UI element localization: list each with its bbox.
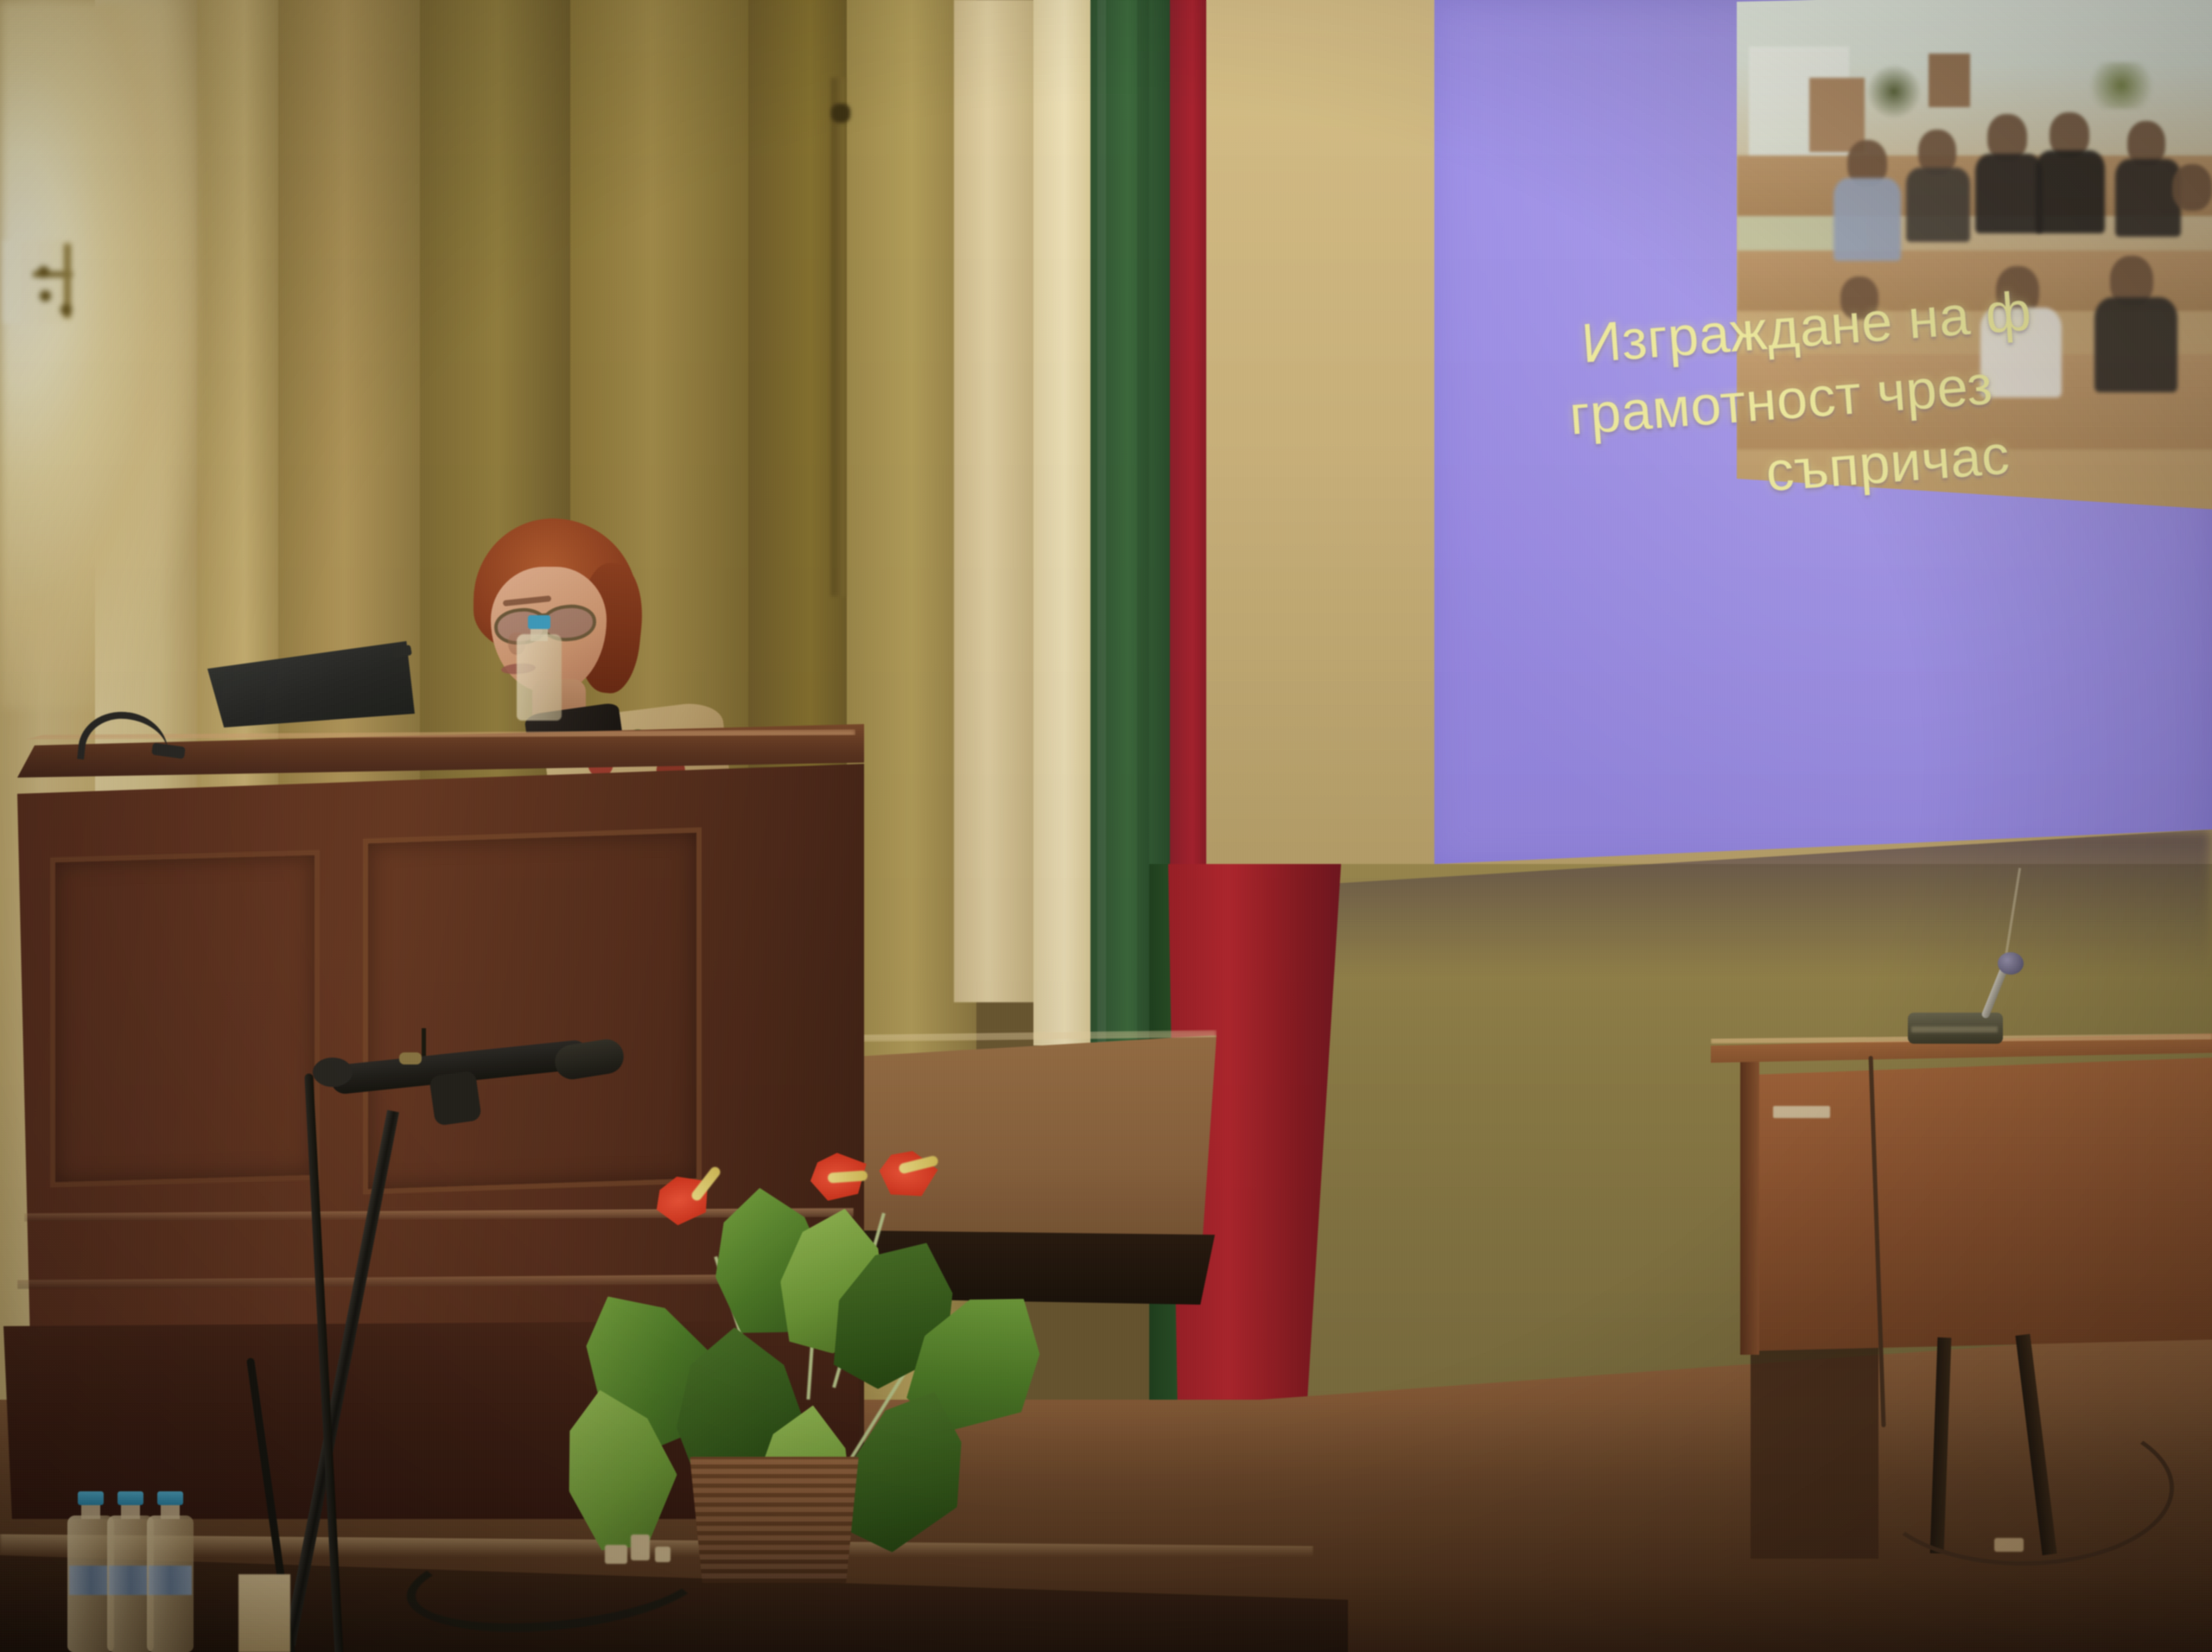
flag-fold: [1137, 0, 1149, 1045]
classroom-picture: [1929, 54, 1970, 107]
bottle-cap: [528, 615, 550, 629]
water-bottle: [147, 1515, 194, 1652]
boom-adjust-screw: [399, 1052, 422, 1064]
bottle-cap: [78, 1491, 104, 1505]
bottled-water-group: [67, 1495, 223, 1652]
photograph-scene: Изграждане на ф грамотност чрез съпричас: [0, 0, 2212, 1652]
mic-base-highlight: [1911, 1026, 1998, 1032]
floor-objects: [605, 1529, 709, 1564]
water-bottle-on-lectern: [517, 619, 562, 722]
boom-joint: [313, 1058, 353, 1087]
student-head: [2172, 164, 2212, 211]
desk-label-sticker: [1773, 1106, 1830, 1118]
classroom-plant: [1866, 64, 1922, 119]
laptop-hinge: [391, 645, 412, 658]
student-torso: [1975, 154, 2043, 233]
curtain-pole: [831, 78, 845, 596]
bottle-label: [109, 1566, 152, 1595]
sconce-bulb: [60, 304, 72, 315]
wicker-basket: [684, 1457, 864, 1583]
bottle-cap: [118, 1491, 143, 1505]
mic-capsule: [1998, 952, 2024, 975]
classroom-plant: [2082, 62, 2160, 109]
sconce-bulb: [38, 266, 49, 277]
sconce-bulb: [40, 290, 51, 302]
floor-prop: [238, 1574, 290, 1652]
desk-side-edge: [1740, 1056, 1759, 1355]
projection-screen: Изграждане на ф грамотност чрез съпричас: [1434, 0, 2212, 864]
laptop-screen: [207, 641, 415, 728]
wall-sconce-light-icon: [3, 240, 73, 323]
classroom-picture: [1809, 78, 1865, 152]
student-torso: [1834, 178, 1901, 261]
bottle-label: [149, 1566, 192, 1595]
sheer-curtain-panel: [954, 0, 1039, 1002]
floor-object: [655, 1547, 671, 1562]
side-table: [1711, 1033, 2212, 1604]
student-torso: [2115, 159, 2181, 237]
floor-cable-loop: [1872, 1410, 2174, 1566]
desk-microphone-icon: [1908, 950, 2081, 1045]
anthurium-bloom: [874, 1146, 945, 1203]
student-torso: [2036, 150, 2105, 233]
wall-light-glow: [0, 0, 199, 708]
lamp-gooseneck: [77, 708, 172, 769]
student-torso: [1906, 168, 1970, 242]
desk-shadow: [1751, 1336, 1878, 1559]
flag-stripe-white: [1033, 0, 1096, 1045]
lectern-lamp-icon: [79, 712, 200, 764]
floor-object: [605, 1545, 627, 1564]
desk-front-panel: [1740, 1058, 2212, 1351]
curtain-pole-cap: [831, 104, 850, 123]
potted-anthurium-plant: [553, 1141, 1089, 1590]
flag-fold: [1097, 0, 1106, 1045]
bottle-body: [517, 634, 562, 721]
boom-clamp: [429, 1071, 482, 1127]
boom-upright-pole: [283, 1110, 399, 1647]
boom-cable-drop: [422, 1028, 426, 1058]
floor-object: [631, 1534, 650, 1560]
anthurium-spadix: [828, 1170, 868, 1183]
bottle-cap: [157, 1491, 183, 1505]
laptop: [207, 641, 415, 736]
bottle-label: [69, 1566, 112, 1595]
